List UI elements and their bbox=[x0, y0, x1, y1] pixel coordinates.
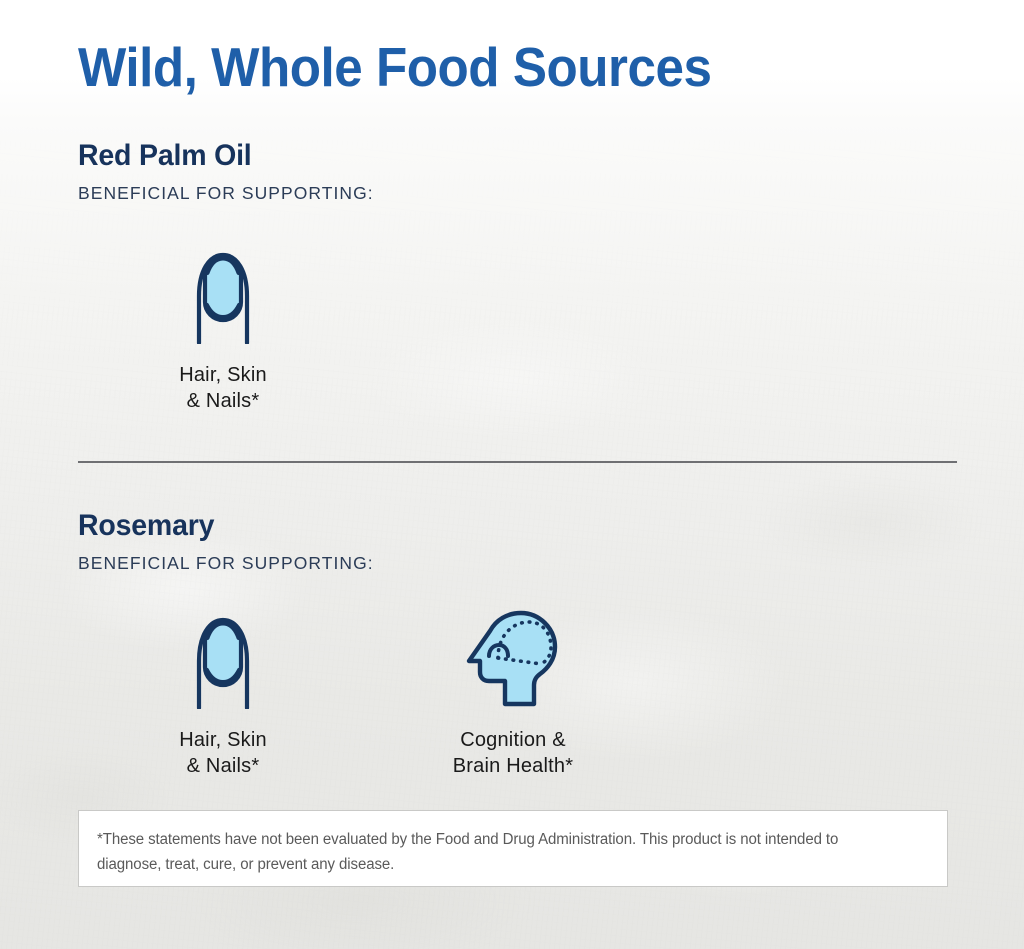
section-subtitle: BENEFICIAL FOR SUPPORTING: bbox=[78, 551, 374, 575]
benefit-item: Hair, Skin & Nails* bbox=[78, 605, 368, 779]
section-rosemary: Rosemary BENEFICIAL FOR SUPPORTING: bbox=[78, 508, 374, 575]
section-red-palm-oil: Red Palm Oil BENEFICIAL FOR SUPPORTING: bbox=[78, 138, 374, 205]
benefit-label: Cognition & Brain Health* bbox=[453, 727, 573, 779]
disclaimer-text: *These statements have not been evaluate… bbox=[97, 827, 904, 877]
fingernail-icon bbox=[173, 605, 273, 715]
disclaimer-box: *These statements have not been evaluate… bbox=[78, 810, 948, 887]
page-content: Wild, Whole Food Sources Red Palm Oil BE… bbox=[0, 0, 1024, 949]
benefit-item: Hair, Skin & Nails* bbox=[78, 240, 368, 414]
section-title: Red Palm Oil bbox=[78, 138, 359, 174]
head-brain-icon bbox=[461, 605, 565, 715]
benefit-row-rosemary: Hair, Skin & Nails* Cognition & Brain He… bbox=[78, 605, 658, 779]
section-divider bbox=[78, 461, 957, 463]
benefit-label: Hair, Skin & Nails* bbox=[179, 362, 267, 414]
page-root: Wild, Whole Food Sources Red Palm Oil BE… bbox=[0, 0, 1024, 949]
benefit-row-red-palm-oil: Hair, Skin & Nails* bbox=[78, 240, 368, 414]
fingernail-icon bbox=[173, 240, 273, 350]
benefit-label: Hair, Skin & Nails* bbox=[179, 727, 267, 779]
benefit-item: Cognition & Brain Health* bbox=[368, 605, 658, 779]
section-title: Rosemary bbox=[78, 508, 359, 544]
section-subtitle: BENEFICIAL FOR SUPPORTING: bbox=[78, 181, 374, 205]
page-title: Wild, Whole Food Sources bbox=[78, 35, 711, 99]
